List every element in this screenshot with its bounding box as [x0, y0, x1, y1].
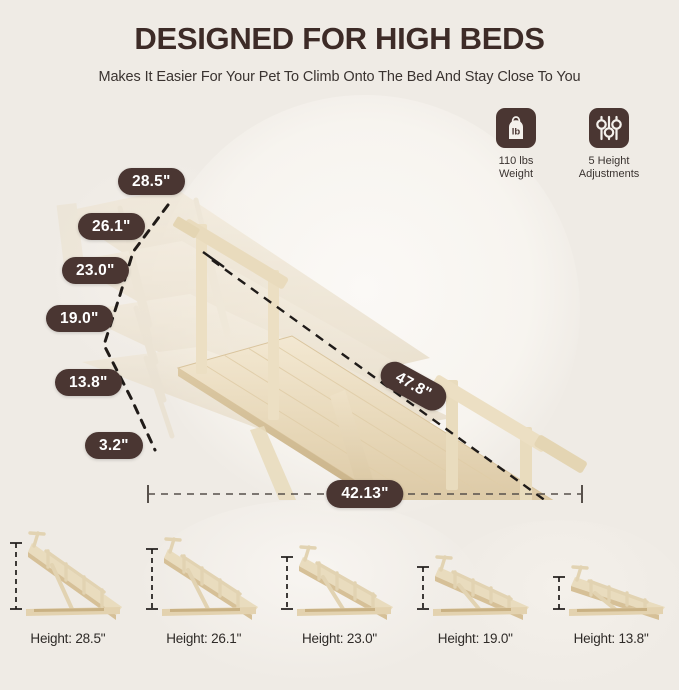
- thumbnail-art-23-0: [275, 521, 403, 625]
- thumbnail-23-0[interactable]: Height: 23.0": [272, 521, 408, 679]
- thumbnail-26-1[interactable]: Height: 26.1": [136, 521, 272, 679]
- thumb-ramp: [162, 539, 258, 620]
- thumbnail-13-8[interactable]: Height: 13.8": [543, 521, 679, 679]
- thumbnail-caption-23-0: Height: 23.0": [302, 631, 377, 646]
- thumbnail-caption-19-0: Height: 19.0": [438, 631, 513, 646]
- thumbnail-art-13-8: [547, 521, 675, 625]
- height-label-3-2: 3.2": [85, 432, 143, 459]
- thumbnail-caption-26-1: Height: 26.1": [166, 631, 241, 646]
- thumb-height-dimension: [281, 557, 293, 609]
- base-width-label: 42.13": [326, 480, 403, 508]
- height-variant-thumbnails: Height: 28.5": [0, 521, 679, 679]
- thumb-height-dimension: [553, 577, 565, 609]
- thumbnail-art-28-5: [4, 521, 132, 625]
- page-subtitle: Makes It Easier For Your Pet To Climb On…: [0, 69, 679, 86]
- thumb-height-dimension: [417, 567, 429, 609]
- thumbnail-19-0[interactable]: Height: 19.0": [407, 521, 543, 679]
- thumb-ramp: [26, 533, 122, 620]
- height-label-26-1: 26.1": [78, 213, 145, 240]
- thumbnail-caption-13-8: Height: 13.8": [574, 631, 649, 646]
- height-label-23-0: 23.0": [62, 257, 129, 284]
- height-label-19-0: 19.0": [46, 305, 113, 332]
- thumbnail-art-19-0: [411, 521, 539, 625]
- thumbnail-art-26-1: [140, 521, 268, 625]
- header: DESIGNED FOR HIGH BEDS Makes It Easier F…: [0, 22, 679, 86]
- base-width-dimension: 42.13": [146, 480, 584, 508]
- page-title: DESIGNED FOR HIGH BEDS: [0, 22, 679, 56]
- thumb-height-dimension: [10, 543, 22, 609]
- thumb-ramp: [433, 557, 529, 620]
- thumb-ramp: [569, 567, 665, 620]
- height-label-13-8: 13.8": [55, 369, 122, 396]
- height-label-28-5: 28.5": [118, 168, 185, 195]
- thumb-height-dimension: [146, 549, 158, 609]
- thumb-ramp: [297, 547, 393, 620]
- thumbnail-caption-28-5: Height: 28.5": [30, 631, 105, 646]
- thumbnail-28-5[interactable]: Height: 28.5": [0, 521, 136, 679]
